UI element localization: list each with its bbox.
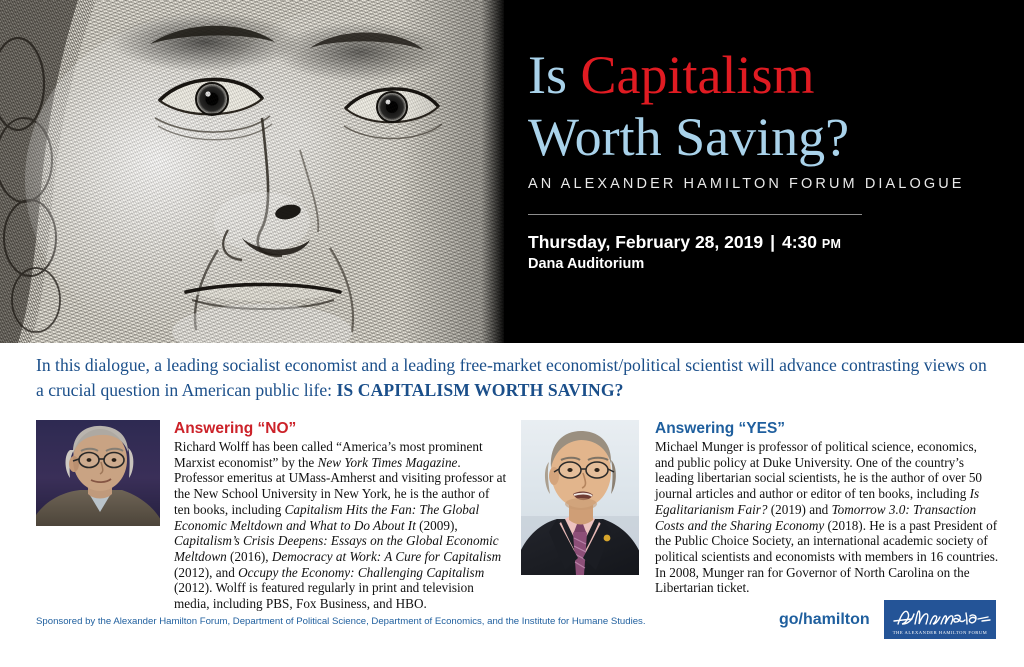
hero-band: Is Capitalism Worth Saving? AN ALEXANDER…: [0, 0, 1024, 343]
stance-label-yes: Answering “YES”: [655, 420, 999, 437]
speaker-block-yes: Answering “YES” Michael Munger is profes…: [521, 420, 999, 596]
title-line-1: Is Capitalism: [528, 44, 1008, 106]
event-poster: Is Capitalism Worth Saving? AN ALEXANDER…: [0, 0, 1024, 667]
title-divider: [528, 214, 862, 215]
intro-question: IS CAPITALISM WORTH SAVING?: [336, 380, 623, 400]
event-datetime: Thursday, February 28, 2019|4:30 PM: [528, 232, 1008, 253]
speaker-block-no: Answering “NO” Richard Wolff has been ca…: [36, 420, 508, 612]
go-hamilton-link[interactable]: go/hamilton: [779, 611, 870, 629]
title-word-capitalism: Capitalism: [581, 45, 815, 105]
franklin-engraving-image: [0, 0, 504, 343]
stance-label-no: Answering “NO”: [174, 420, 508, 437]
alexander-hamilton-forum-logo[interactable]: THE ALEXANDER HAMILTON FORUM: [884, 600, 996, 639]
svg-text:THE ALEXANDER HAMILTON FORUM: THE ALEXANDER HAMILTON FORUM: [893, 630, 988, 635]
event-ampm: PM: [822, 237, 841, 251]
richard-wolff-photo: [36, 420, 160, 526]
bio-text-wolff: Richard Wolff has been called “America’s…: [174, 439, 508, 612]
event-date: Thursday, February 28, 2019: [528, 232, 763, 252]
title-line-2: Worth Saving?: [528, 106, 1008, 168]
title-word-is: Is: [528, 45, 581, 105]
poster-subtitle: AN ALEXANDER HAMILTON FORUM DIALOGUE: [528, 176, 1008, 192]
bio-text-munger: Michael Munger is professor of political…: [655, 439, 999, 596]
intro-paragraph: In this dialogue, a leading socialist ec…: [36, 353, 996, 403]
michael-munger-photo: [521, 420, 639, 575]
title-block: Is Capitalism Worth Saving? AN ALEXANDER…: [528, 44, 1008, 272]
datetime-separator: |: [763, 232, 782, 252]
sponsor-line: Sponsored by the Alexander Hamilton Foru…: [36, 616, 646, 627]
event-time: 4:30: [782, 232, 817, 252]
event-venue: Dana Auditorium: [528, 256, 1008, 272]
